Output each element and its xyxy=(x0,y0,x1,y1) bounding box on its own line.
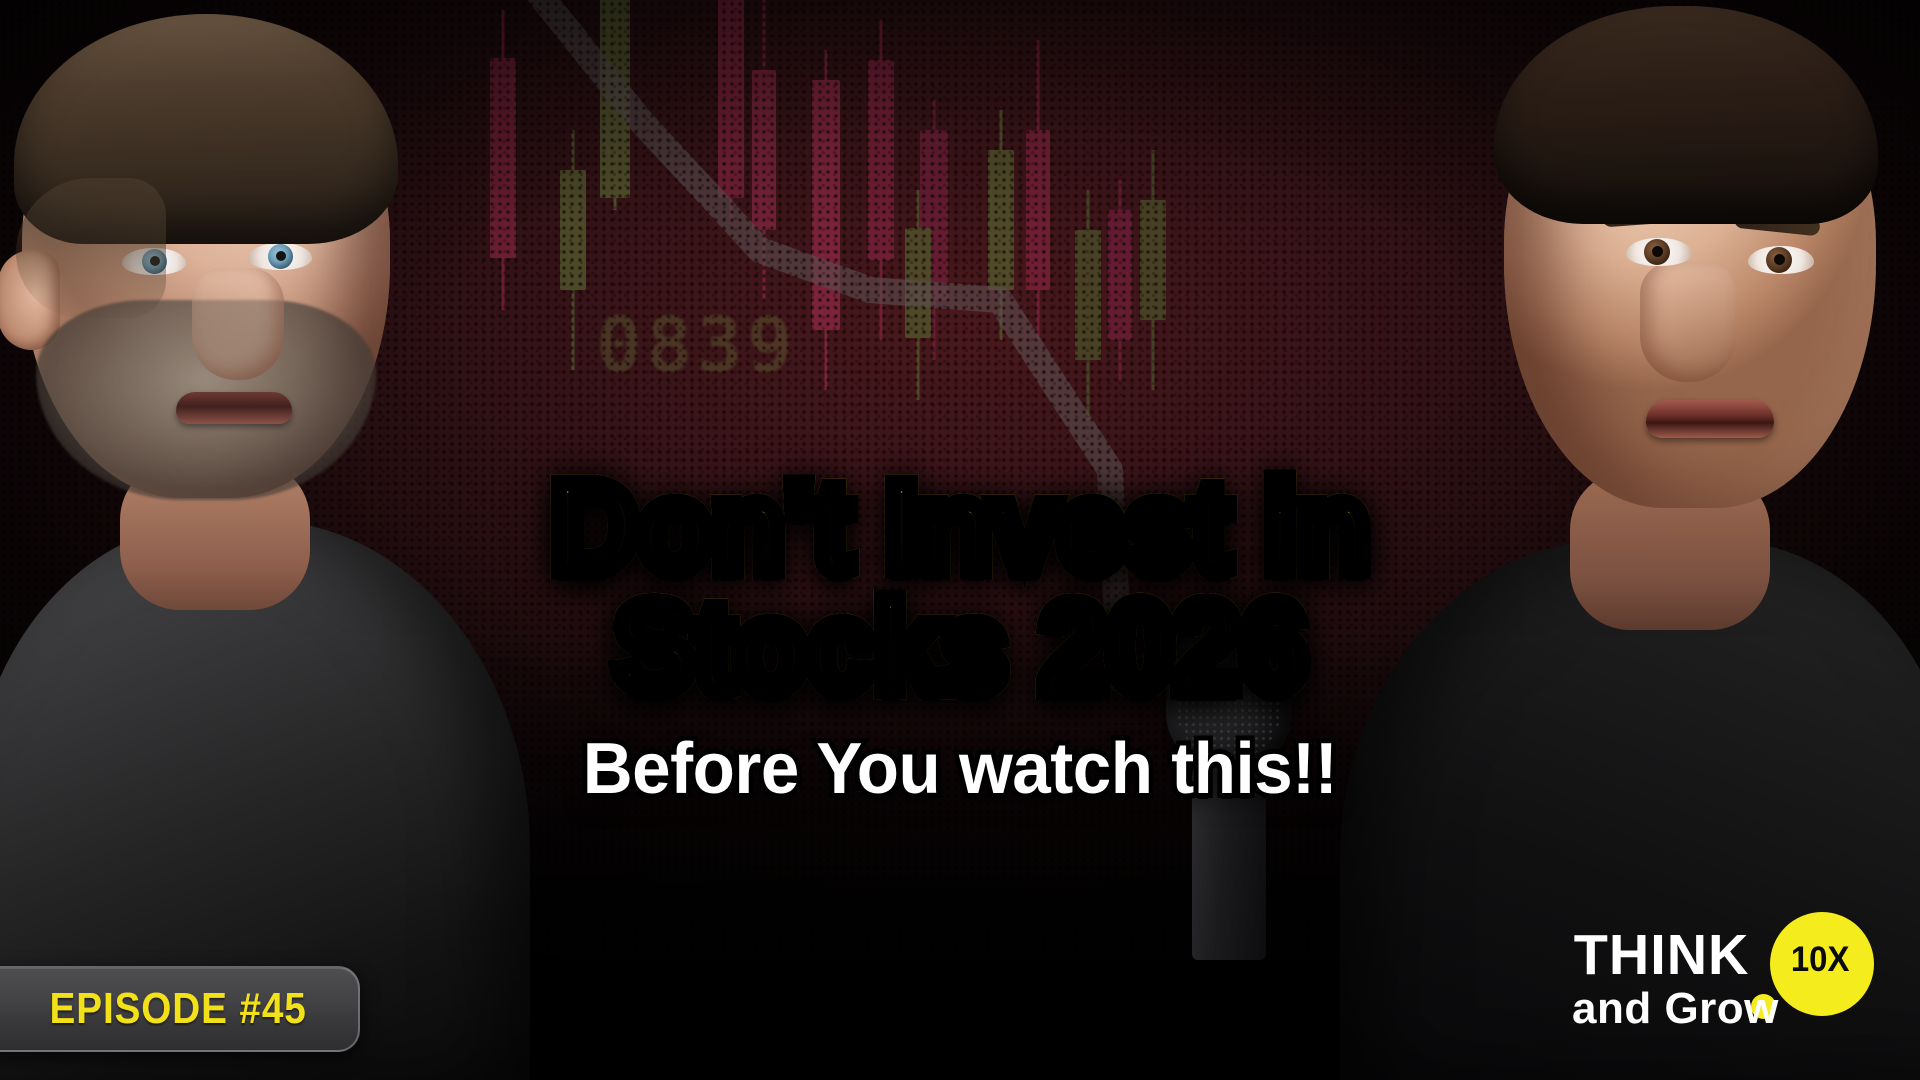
guest-left-hair-fade xyxy=(16,178,166,318)
guest-left-nose xyxy=(192,268,284,380)
host-right-mouth xyxy=(1646,400,1774,438)
logo-word-bottom: and Grow xyxy=(1572,984,1779,1034)
guest-left-mouth xyxy=(176,392,292,424)
title-line-1: Don't Invest in xyxy=(48,468,1872,588)
host-right-hair xyxy=(1494,6,1878,224)
guest-left-eye-right xyxy=(248,243,312,270)
headline-block: Don't Invest in Stocks 2026 Before You w… xyxy=(0,468,1920,805)
logo-bubble-icon: 10X xyxy=(1770,912,1874,1016)
host-right-eye-right xyxy=(1748,246,1814,274)
logo-word-top: THINK xyxy=(1574,922,1750,988)
title-line-2: Stocks 2026 xyxy=(48,588,1872,708)
subtitle-text: Before You watch this!! xyxy=(38,733,1881,805)
logo-bubble-label: 10X xyxy=(1791,940,1850,980)
episode-badge-label: EPISODE #45 xyxy=(50,984,307,1034)
host-right-nose xyxy=(1640,262,1736,382)
title-line-2-text: Stocks 2026 xyxy=(614,576,1307,719)
youtube-thumbnail: 0839 xyxy=(0,0,1920,1080)
host-right-eye-left xyxy=(1626,238,1692,266)
brand-logo: 10X THINK and Grow xyxy=(1570,904,1880,1044)
episode-badge: EPISODE #45 xyxy=(0,966,360,1052)
